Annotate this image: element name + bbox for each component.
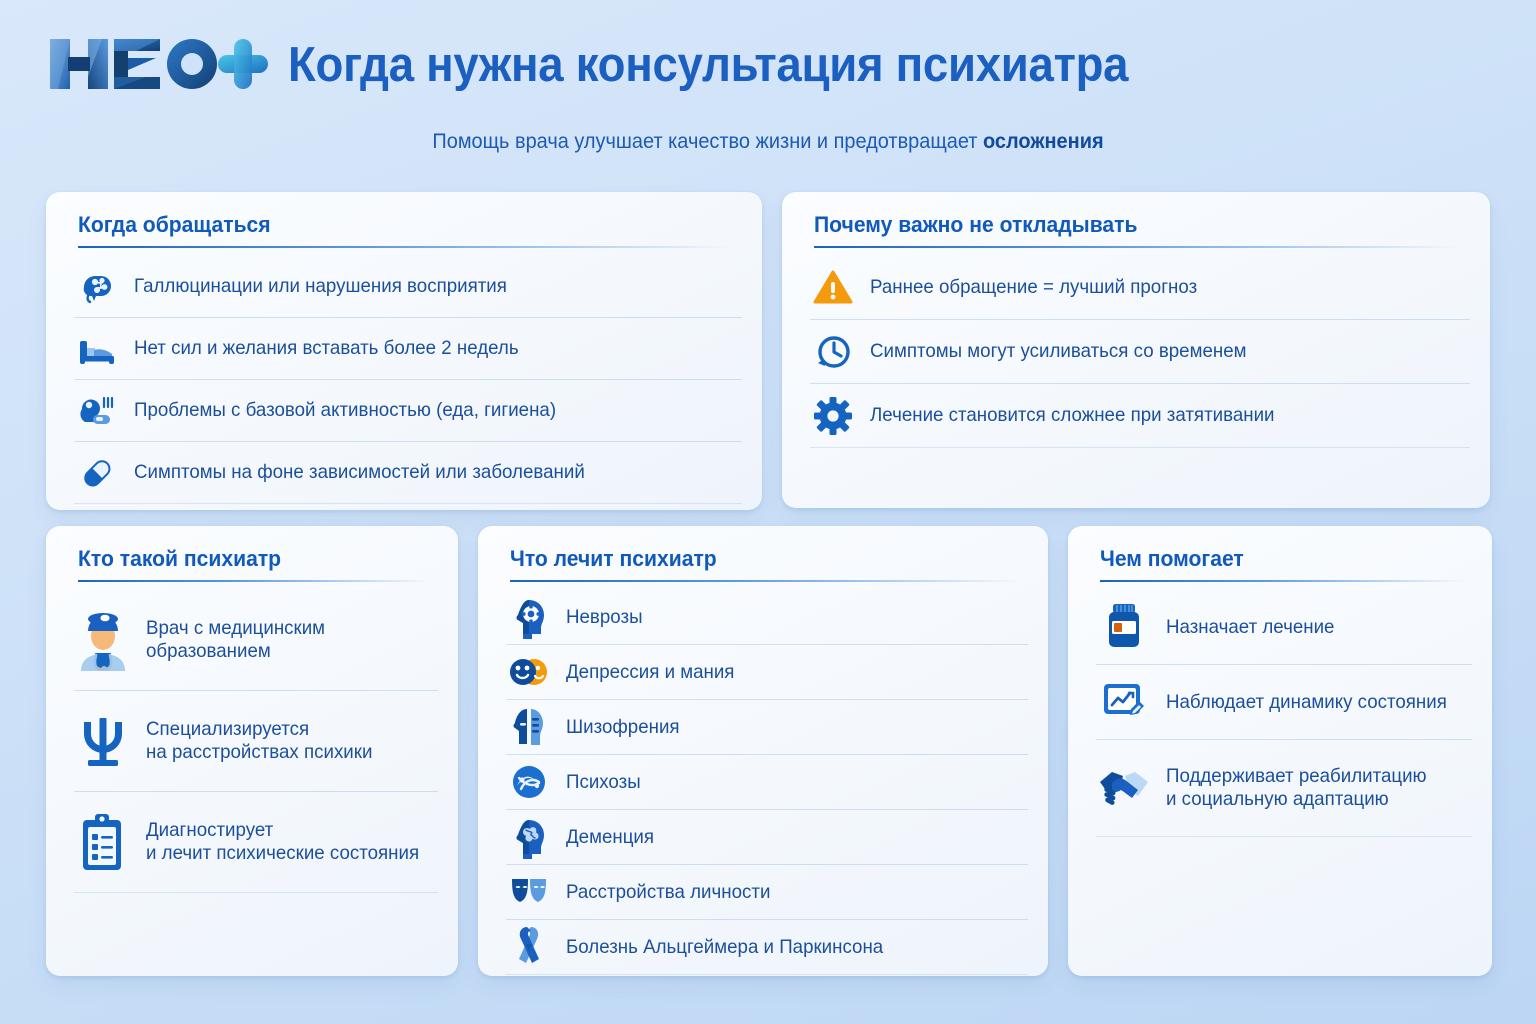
clipboard-icon — [74, 807, 132, 877]
list-item[interactable]: Проблемы с базовой активностью (еда, гиг… — [74, 380, 742, 442]
item-label-line1: Поддерживает реабилитацию — [1166, 765, 1427, 787]
infographic-page: Когда нужна консультация психиатра Помощ… — [0, 0, 1536, 1024]
bed-icon — [74, 326, 120, 372]
item-label: Специализируется на расстройствах психик… — [146, 718, 372, 764]
item-label: Галлюцинации или нарушения восприятия — [134, 275, 507, 298]
list-item[interactable]: Симптомы на фоне зависимостей или заболе… — [74, 442, 742, 504]
chart-board-icon — [1096, 674, 1152, 730]
item-label: Нет сил и желания вставать более 2 недел… — [134, 337, 519, 360]
item-label: Проблемы с базовой активностью (еда, гиг… — [134, 399, 556, 422]
list-item[interactable]: Врач с медицинским образованием — [74, 590, 438, 691]
item-label-line2: образованием — [146, 640, 325, 663]
item-label-line1: Специализируется — [146, 718, 309, 740]
brain-icon — [74, 264, 120, 310]
card-item-list: Врач с медицинским образованием Спец — [74, 590, 438, 893]
item-label-line1: Врач с медицинским — [146, 617, 325, 639]
card-why-not-delay: Почему важно не откладывать Раннее обращ… — [782, 192, 1490, 508]
tangled-mind-icon — [506, 759, 552, 805]
card-heading: Почему важно не откладывать — [814, 212, 1436, 238]
list-item[interactable]: Раннее обращение = лучший прогноз — [810, 256, 1470, 320]
item-label: Диагностирует и лечит психические состоя… — [146, 819, 419, 865]
heading-divider — [78, 580, 430, 582]
item-label-line2: и лечит психические состояния — [146, 842, 419, 865]
heading-divider — [510, 580, 1020, 582]
card-heading: Кто такой психиатр — [78, 546, 416, 572]
list-item[interactable]: Диагностирует и лечит психические состоя… — [74, 792, 438, 893]
list-item[interactable]: Галлюцинации или нарушения восприятия — [74, 256, 742, 318]
gear-icon — [810, 393, 856, 439]
card-heading: Когда обращаться — [78, 212, 708, 238]
card-how-it-helps: Чем помогает Назначает лечение — [1068, 526, 1492, 976]
item-label-line1: Диагностирует — [146, 819, 273, 841]
item-label: Симптомы на фоне зависимостей или заболе… — [134, 461, 585, 484]
list-item[interactable]: Нет сил и желания вставать более 2 недел… — [74, 318, 742, 380]
item-label: Деменция — [566, 826, 654, 849]
head-brain-icon — [506, 814, 552, 860]
item-label: Депрессия и мания — [566, 661, 734, 684]
item-label: Неврозы — [566, 606, 643, 629]
header: Когда нужна консультация психиатра Помощ… — [0, 0, 1536, 170]
list-item[interactable]: Наблюдает динамику состояния — [1096, 665, 1472, 740]
heading-divider — [1100, 580, 1464, 582]
list-item[interactable]: Лечение становится сложнее при затятиван… — [810, 384, 1470, 448]
list-item[interactable]: Симптомы могут усиливаться со временем — [810, 320, 1470, 384]
list-item[interactable]: Расстройства личности — [506, 865, 1028, 920]
heading-divider — [78, 246, 734, 248]
warning-triangle-icon — [810, 265, 856, 311]
card-item-list: Раннее обращение = лучший прогноз Симпто… — [810, 256, 1470, 448]
pill-capsule-icon — [74, 450, 120, 496]
doctor-avatar-icon — [74, 605, 132, 675]
card-who-is-psychiatrist: Кто такой психиатр — [46, 526, 458, 976]
list-item[interactable]: Психозы — [506, 755, 1028, 810]
item-label: Болезнь Альцгеймера и Паркинсона — [566, 936, 883, 959]
page-subtitle: Помощь врача улучшает качество жизни и п… — [38, 130, 1497, 154]
split-head-icon — [506, 704, 552, 750]
list-item[interactable]: Болезнь Альцгеймера и Паркинсона — [506, 920, 1028, 975]
card-what-psychiatrist-treats: Что лечит психиатр — [478, 526, 1048, 976]
list-item[interactable]: Специализируется на расстройствах психик… — [74, 691, 438, 792]
item-label-line2: на расстройствах психики — [146, 741, 372, 764]
card-heading: Чем помогает — [1100, 546, 1449, 572]
item-label: Симптомы могут усиливаться со временем — [870, 340, 1246, 363]
item-label: Психозы — [566, 771, 641, 794]
list-item[interactable]: Депрессия и мания — [506, 645, 1028, 700]
list-item[interactable]: Шизофрения — [506, 700, 1028, 755]
item-label: Лечение становится сложнее при затятиван… — [870, 404, 1275, 427]
item-label: Поддерживает реабилитацию и социальную а… — [1166, 765, 1427, 811]
subtitle-accent: осложнения — [983, 130, 1104, 153]
theater-masks-icon — [506, 869, 552, 915]
list-item[interactable]: Поддерживает реабилитацию и социальную а… — [1096, 740, 1472, 837]
item-label: Шизофрения — [566, 716, 680, 739]
card-item-list: Назначает лечение Наблюдает динамику сос… — [1096, 590, 1472, 837]
card-heading: Что лечит психиатр — [510, 546, 1000, 572]
card-when-to-seek-help: Когда обращаться Галл — [46, 192, 762, 510]
head-gear-icon — [506, 594, 552, 640]
subtitle-lead: Помощь врача улучшает качество жизни и п… — [432, 130, 983, 153]
neo-plus-logo — [48, 33, 270, 95]
item-label: Раннее обращение = лучший прогноз — [870, 276, 1197, 299]
list-item[interactable]: Деменция — [506, 810, 1028, 865]
two-faces-icon — [506, 649, 552, 695]
heading-divider — [814, 246, 1462, 248]
page-title: Когда нужна консультация психиатра — [288, 37, 1128, 93]
list-item[interactable]: Неврозы — [506, 590, 1028, 645]
list-item[interactable]: Назначает лечение — [1096, 590, 1472, 665]
psi-symbol-icon — [74, 706, 132, 776]
item-label: Расстройства личности — [566, 881, 770, 904]
item-label: Назначает лечение — [1166, 616, 1334, 639]
eating-person-icon — [74, 388, 120, 434]
awareness-ribbon-icon — [506, 924, 552, 970]
clock-icon — [810, 329, 856, 375]
item-label: Наблюдает динамику состояния — [1166, 691, 1447, 714]
item-label-line2: и социальную адаптацию — [1166, 788, 1427, 811]
item-label: Врач с медицинским образованием — [146, 617, 325, 663]
handshake-icon — [1096, 760, 1152, 816]
card-item-list: Неврозы — [506, 590, 1028, 975]
pill-bottle-icon — [1096, 599, 1152, 655]
card-item-list: Галлюцинации или нарушения восприятия Не… — [74, 256, 742, 504]
